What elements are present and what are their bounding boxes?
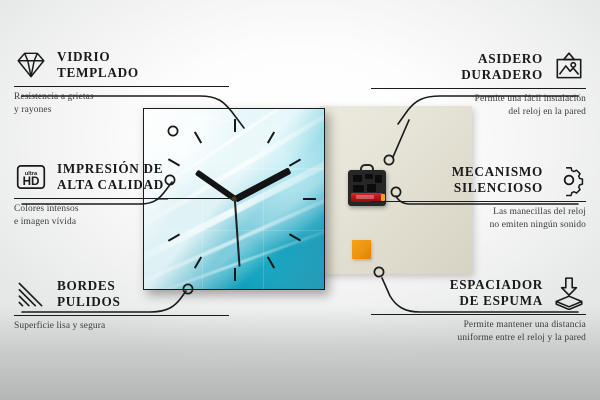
hanging-frame-icon: [552, 50, 586, 84]
feature-description: Las manecillas del reloj no emiten ningú…: [371, 206, 586, 232]
feature-title: ASIDERO DURADERO: [461, 51, 543, 83]
feature-espaciador-espuma: ESPACIADOR DE ESPUMA Permite mantener un…: [371, 276, 586, 345]
svg-text:HD: HD: [23, 175, 40, 188]
ultra-hd-icon: ultra HD: [14, 160, 48, 194]
feature-description: Resistencia a grietas y rayones: [14, 91, 229, 117]
feature-title: MECANISMO SILENCIOSO: [452, 164, 543, 196]
diamond-icon: [14, 48, 48, 82]
feature-bordes-pulidos: BORDES PULIDOS Superficie lisa y segura: [14, 277, 229, 333]
feature-description: Superficie lisa y segura: [14, 320, 229, 333]
gear-icon: [552, 163, 586, 197]
connector-node-1: [168, 126, 177, 135]
feature-mecanismo-silencioso: MECANISMO SILENCIOSO Las manecillas del …: [371, 163, 586, 232]
feature-title: VIDRIO TEMPLADO: [57, 49, 139, 81]
feature-description: Permite mantener una distancia uniforme …: [371, 319, 586, 345]
feature-title: BORDES PULIDOS: [57, 278, 121, 310]
polished-edges-icon: [14, 277, 48, 311]
divider: [371, 201, 586, 202]
divider: [14, 315, 229, 316]
connector-line-4b: [393, 120, 409, 157]
feature-vidrio-templado: VIDRIO TEMPLADO Resistencia a grietas y …: [14, 48, 229, 117]
feature-description: Colores intensos e imagen vívida: [14, 203, 229, 229]
feature-title: IMPRESIÓN DE ALTA CALIDAD: [57, 161, 164, 193]
divider: [371, 314, 586, 315]
foam-spacer-icon: [552, 276, 586, 310]
feature-description: Permite una fácil instalación del reloj …: [371, 93, 586, 119]
feature-impresion-alta-calidad: ultra HD IMPRESIÓN DE ALTA CALIDAD Color…: [14, 160, 229, 229]
divider: [14, 198, 229, 199]
divider: [371, 88, 586, 89]
divider: [14, 86, 229, 87]
infographic-canvas: VIDRIO TEMPLADO Resistencia a grietas y …: [0, 0, 600, 400]
feature-title: ESPACIADOR DE ESPUMA: [450, 277, 543, 309]
feature-asidero-duradero: ASIDERO DURADERO Permite una fácil insta…: [371, 50, 586, 119]
